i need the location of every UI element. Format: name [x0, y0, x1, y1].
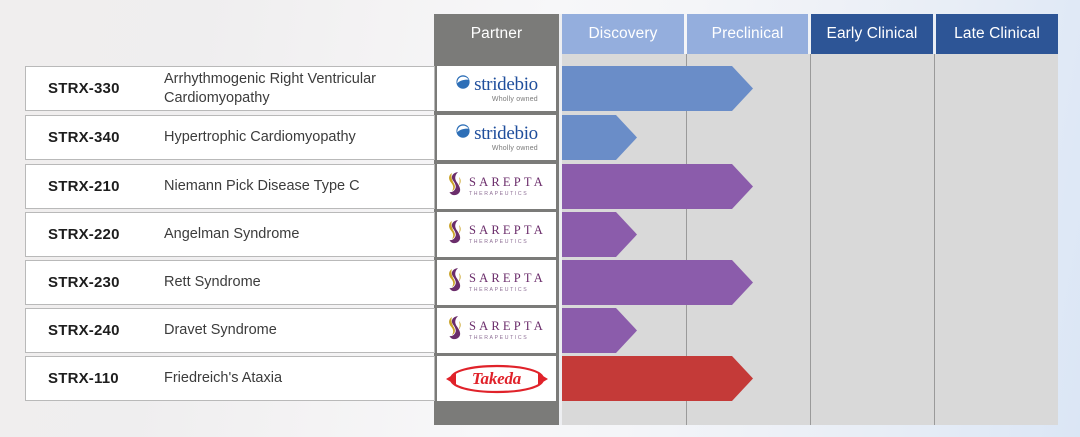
- sarepta-wordmark: SAREPTA: [469, 224, 546, 237]
- stridebio-note: Wholly owned: [492, 145, 538, 152]
- sarepta-wordmark: SAREPTA: [469, 272, 546, 285]
- partner-cell: stridebio Wholly owned: [437, 115, 556, 160]
- pipeline-chart: Partner Discovery Preclinical Early Clin…: [0, 0, 1080, 437]
- program-code: STRX-240: [48, 309, 120, 352]
- sarepta-mark-icon: [447, 315, 464, 346]
- sarepta-logo: SAREPTA THERAPEUTICS: [447, 267, 546, 298]
- stridebio-mark-icon: [455, 74, 471, 94]
- partner-cell: stridebio Wholly owned: [437, 66, 556, 111]
- sarepta-mark-icon: [447, 267, 464, 298]
- stridebio-wordmark: stridebio: [474, 75, 538, 94]
- takeda-wordmark: Takeda: [472, 369, 521, 389]
- column-header-discovery: Discovery: [562, 14, 684, 54]
- program-code: STRX-110: [48, 357, 119, 400]
- sarepta-logo: SAREPTA THERAPEUTICS: [447, 219, 546, 250]
- table-row[interactable]: STRX-340 Hypertrophic Cardiomyopathy: [25, 115, 435, 160]
- sarepta-wordmark: SAREPTA: [469, 320, 546, 333]
- column-header-early-clinical: Early Clinical: [811, 14, 933, 54]
- program-code: STRX-220: [48, 213, 120, 256]
- table-row[interactable]: STRX-210 Niemann Pick Disease Type C: [25, 164, 435, 209]
- divider-early-late: [934, 54, 935, 425]
- sarepta-note: THERAPEUTICS: [469, 288, 546, 293]
- bar-strx-330: [562, 66, 753, 111]
- bar-strx-110: [562, 356, 753, 401]
- partner-cell: SAREPTA THERAPEUTICS: [437, 164, 556, 209]
- partner-cell: SAREPTA THERAPEUTICS: [437, 308, 556, 353]
- column-header-late-clinical: Late Clinical: [936, 14, 1058, 54]
- partner-cell: SAREPTA THERAPEUTICS: [437, 212, 556, 257]
- bar-strx-220: [562, 212, 637, 257]
- sarepta-mark-icon: [447, 171, 464, 202]
- sarepta-mark-icon: [447, 219, 464, 250]
- indication-label: Dravet Syndrome: [164, 309, 414, 352]
- indication-label: Angelman Syndrome: [164, 213, 414, 256]
- column-header-preclinical: Preclinical: [687, 14, 808, 54]
- sarepta-logo: SAREPTA THERAPEUTICS: [447, 171, 546, 202]
- sarepta-wordmark: SAREPTA: [469, 176, 546, 189]
- stridebio-logo: stridebio Wholly owned: [455, 123, 538, 152]
- program-code: STRX-340: [48, 116, 120, 159]
- bar-strx-240: [562, 308, 637, 353]
- bar-strx-340: [562, 115, 637, 160]
- table-row[interactable]: STRX-240 Dravet Syndrome: [25, 308, 435, 353]
- indication-label: Niemann Pick Disease Type C: [164, 165, 414, 208]
- bar-strx-230: [562, 260, 753, 305]
- indication-label: Friedreich's Ataxia: [164, 357, 414, 400]
- sarepta-note: THERAPEUTICS: [469, 240, 546, 245]
- program-code: STRX-210: [48, 165, 120, 208]
- indication-label: Arrhythmogenic Right Ventricular Cardiom…: [164, 67, 414, 110]
- partner-cell: SAREPTA THERAPEUTICS: [437, 260, 556, 305]
- table-row[interactable]: STRX-220 Angelman Syndrome: [25, 212, 435, 257]
- table-row[interactable]: STRX-110 Friedreich's Ataxia: [25, 356, 435, 401]
- divider-preclinical-early: [810, 54, 811, 425]
- stridebio-mark-icon: [455, 123, 471, 143]
- table-row[interactable]: STRX-330 Arrhythmogenic Right Ventricula…: [25, 66, 435, 111]
- sarepta-note: THERAPEUTICS: [469, 192, 546, 197]
- partner-cell: Takeda: [437, 356, 556, 401]
- program-code: STRX-230: [48, 261, 120, 304]
- stridebio-logo: stridebio Wholly owned: [455, 74, 538, 103]
- indication-label: Hypertrophic Cardiomyopathy: [164, 116, 414, 159]
- stridebio-note: Wholly owned: [492, 96, 538, 103]
- program-code: STRX-330: [48, 67, 120, 110]
- column-header-partner: Partner: [434, 14, 559, 54]
- takeda-logo: Takeda: [445, 364, 549, 394]
- table-row[interactable]: STRX-230 Rett Syndrome: [25, 260, 435, 305]
- indication-label: Rett Syndrome: [164, 261, 414, 304]
- sarepta-logo: SAREPTA THERAPEUTICS: [447, 315, 546, 346]
- bar-strx-210: [562, 164, 753, 209]
- sarepta-note: THERAPEUTICS: [469, 336, 546, 341]
- stridebio-wordmark: stridebio: [474, 124, 538, 143]
